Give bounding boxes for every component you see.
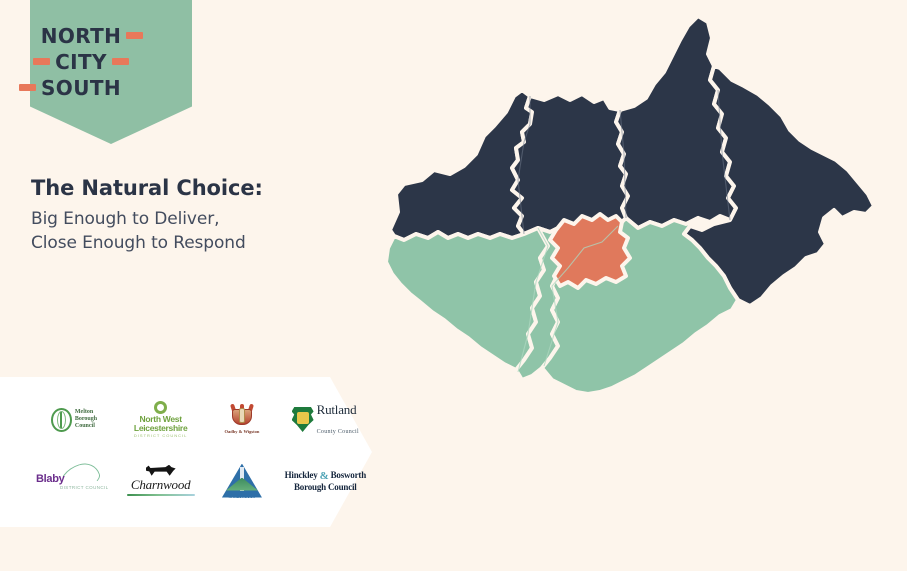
partner-logo-oadby-and-wigston-borough-council[interactable]: Oadby & Wigston bbox=[201, 389, 282, 450]
logo-word-city: CITY bbox=[55, 52, 107, 72]
partner-logo-harborough-district-council[interactable]: HARBOROUGH bbox=[201, 450, 282, 511]
partner-logo-sublabel: DISTRICT COUNCIL bbox=[60, 485, 109, 490]
harborough-triangle-icon: HARBOROUGH bbox=[222, 464, 262, 498]
partner-logo-label: Oadby & Wigston bbox=[225, 429, 260, 434]
partner-logo-label: Rutland County Council bbox=[317, 401, 359, 438]
poster-canvas: NORTH CITY SOUTH The Natural Choice: Big… bbox=[0, 0, 907, 571]
dash-icon bbox=[33, 58, 50, 65]
partner-logo-rutland-county-council[interactable]: Rutland County Council bbox=[283, 389, 368, 450]
partner-logo-sublabel: DISTRICT COUNCIL bbox=[134, 433, 187, 438]
headline-subtitle-line2: Close Enough to Respond bbox=[31, 231, 351, 256]
melton-globe-icon bbox=[51, 408, 72, 432]
map-container bbox=[372, 8, 907, 408]
partner-logo-label: Melton Borough Council bbox=[75, 409, 97, 430]
headline-subtitle-line1: Big Enough to Deliver, bbox=[31, 207, 351, 232]
logo-row-north: NORTH bbox=[19, 24, 144, 47]
region-leicester-city[interactable] bbox=[550, 214, 630, 288]
charnwood-fox-icon bbox=[146, 465, 176, 476]
headline-block: The Natural Choice: Big Enough to Delive… bbox=[31, 176, 351, 256]
dash-icon bbox=[112, 58, 129, 65]
partner-logo-label: Hinckley & Bosworth bbox=[285, 469, 366, 481]
map-svg bbox=[372, 8, 907, 408]
charnwood-rule bbox=[127, 494, 195, 497]
region-hinckley-and-bosworth[interactable] bbox=[386, 228, 550, 370]
partner-logo-hinckley-and-bosworth-borough-council[interactable]: Hinckley & Bosworth Borough Council bbox=[283, 450, 368, 511]
partner-logo-north-west-leicestershire-district-council[interactable]: North West Leicestershire DISTRICT COUNC… bbox=[120, 389, 201, 450]
partner-logo-sublabel: Borough Council bbox=[294, 482, 357, 492]
partner-logo-label: HARBOROUGH bbox=[222, 495, 262, 499]
logo-word-north: NORTH bbox=[41, 26, 122, 46]
dash-icon bbox=[126, 32, 143, 39]
logo-wordmark: NORTH CITY SOUTH bbox=[0, 24, 162, 99]
nwl-rosette-icon bbox=[154, 401, 167, 414]
ampersand-icon: & bbox=[320, 470, 329, 482]
partner-logo-melton-borough-council[interactable]: Melton Borough Council bbox=[28, 389, 120, 450]
region-north-west-leicestershire[interactable] bbox=[390, 90, 532, 240]
partner-logo-charnwood-borough-council[interactable]: Charnwood bbox=[120, 450, 201, 511]
logo-word-south: SOUTH bbox=[41, 78, 121, 98]
partner-logo-label: Blaby bbox=[36, 473, 64, 485]
partner-logo-blaby-district-council[interactable]: Blaby DISTRICT COUNCIL bbox=[28, 450, 120, 511]
blaby-swirl-icon: Blaby DISTRICT COUNCIL bbox=[30, 461, 118, 501]
headline-title: The Natural Choice: bbox=[31, 176, 351, 202]
heraldic-crest-icon bbox=[227, 404, 257, 428]
dash-icon bbox=[19, 84, 36, 91]
partner-logo-label: Charnwood bbox=[131, 477, 191, 493]
partner-logos-grid: Melton Borough Council North West Leices… bbox=[28, 389, 368, 511]
rutland-crest-icon bbox=[292, 407, 314, 432]
logo-row-city: CITY bbox=[33, 50, 129, 73]
logo-row-south: SOUTH bbox=[19, 76, 143, 99]
partner-logo-label: North West Leicestershire bbox=[134, 415, 187, 433]
